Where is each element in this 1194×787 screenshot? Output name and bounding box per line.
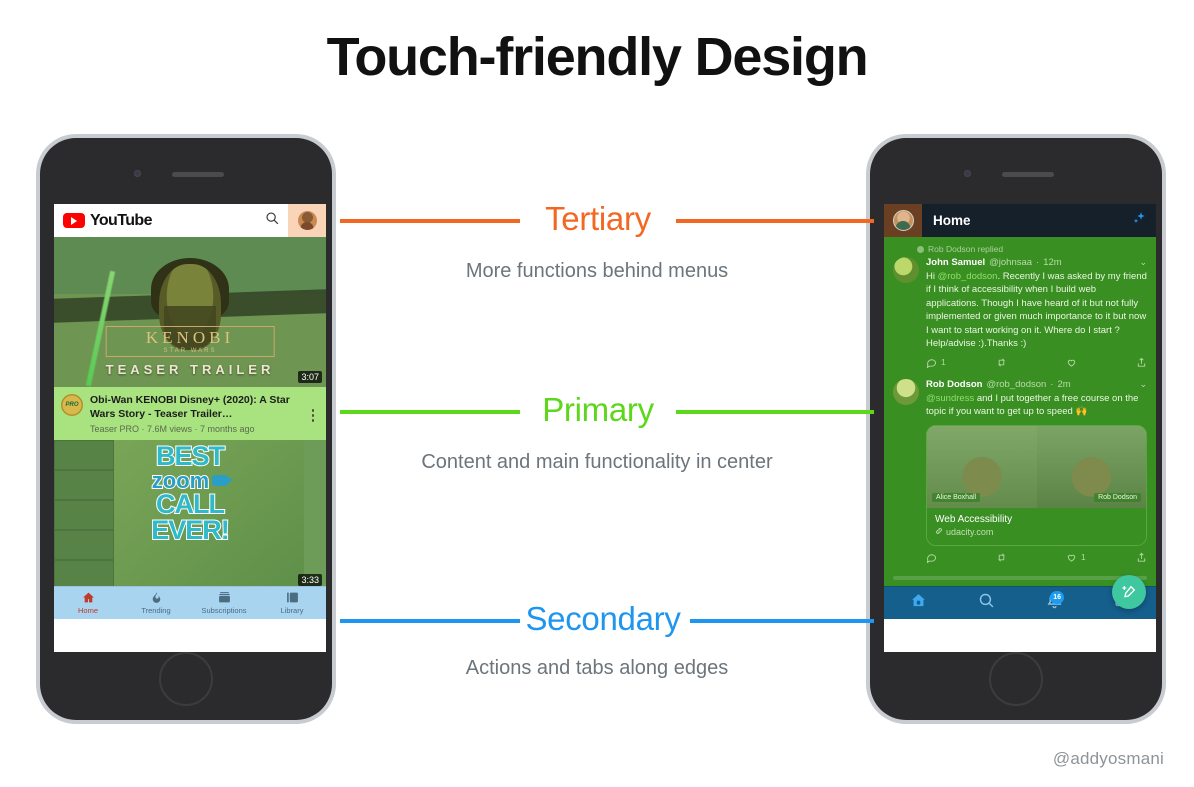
nav-item-subscriptions[interactable]: Subscriptions [190, 591, 258, 615]
twitter-app-bar: Home [884, 204, 1156, 237]
front-camera-icon [964, 170, 971, 177]
retweet-action[interactable] [996, 552, 1066, 563]
home-icon [910, 592, 927, 614]
profile-avatar-button[interactable] [884, 204, 922, 237]
nav-item-library[interactable]: Library [258, 591, 326, 615]
chevron-down-icon[interactable]: ⌄ [1139, 379, 1147, 390]
tweet-body: @sundress and I put together a free cour… [926, 392, 1147, 419]
youtube-play-icon [63, 213, 85, 228]
earpiece-speaker [172, 172, 224, 177]
account-avatar [298, 211, 317, 230]
phone-body: YouTube [40, 138, 332, 720]
share-action[interactable] [1136, 357, 1147, 368]
tweet-context: Rob Dodson replied [917, 244, 1147, 254]
video-camera-icon [212, 475, 228, 486]
profile-avatar [893, 210, 914, 231]
video-duration: 3:33 [298, 574, 322, 586]
leader-line-right [690, 619, 874, 623]
subscriptions-icon [218, 591, 231, 604]
home-icon [82, 591, 95, 604]
video-meta: Teaser PRO · 7.6M views · 7 months ago [90, 424, 299, 434]
sparkle-icon[interactable] [1131, 211, 1146, 231]
phone-mockup-twitter: Home Rob Dodson replied [866, 134, 1166, 724]
reply-action[interactable] [926, 552, 996, 563]
nav-item-home[interactable]: Home [54, 591, 122, 615]
card-url: udacity.com [935, 527, 1138, 537]
slide-canvas: Touch-friendly Design YouTube [0, 0, 1194, 787]
reply-count: 1 [941, 357, 946, 367]
video-overflow-menu-icon[interactable] [306, 394, 320, 434]
flame-icon [150, 591, 163, 604]
notification-badge: 16 [1050, 591, 1064, 604]
video-duration: 3:07 [298, 371, 322, 383]
tweet-link-card[interactable]: Alice Boxhall Rob Dodson Web Accessibili… [926, 425, 1147, 546]
youtube-app-bar: YouTube [54, 204, 326, 237]
search-icon [978, 592, 995, 614]
library-icon [286, 591, 299, 604]
nav-item-search[interactable] [952, 592, 1020, 614]
video-metadata-row[interactable]: PRO Obi-Wan KENOBI Disney+ (2020): A Sta… [54, 387, 326, 440]
nav-label-trending: Trending [141, 606, 170, 615]
channel-avatar[interactable]: PRO [61, 394, 83, 416]
thumbnail-title-block: KENOBI STAR WARS [106, 326, 275, 357]
card-person-right: Rob Dodson [1094, 493, 1141, 502]
card-person-left: Alice Boxhall [932, 493, 980, 502]
thumbnail-line-1: BEST [156, 444, 224, 470]
thumbnail-line-3: EVER! [151, 518, 229, 544]
thumbnail-title-sub: STAR WARS [107, 348, 274, 354]
thumbnail-line-2: CALL [156, 492, 224, 518]
annotation-label-tertiary: Tertiary [520, 200, 676, 238]
video-title: Obi-Wan KENOBI Disney+ (2020): A Star Wa… [90, 394, 299, 421]
tweet-action-bar: 1 [926, 357, 1147, 368]
annotation-desc-secondary: Actions and tabs along edges [0, 657, 1194, 680]
annotation-label-secondary: Secondary [516, 600, 690, 638]
nav-label-home: Home [78, 606, 98, 615]
video-thumbnail[interactable]: BEST zoom CALL EVER! 3:33 [54, 440, 326, 590]
youtube-wordmark: YouTube [90, 212, 152, 230]
card-title: Web Accessibility [935, 514, 1138, 525]
account-avatar-button[interactable] [288, 204, 326, 237]
nav-label-library: Library [281, 606, 304, 615]
leader-line-right [676, 219, 874, 223]
leader-line-left [340, 619, 520, 623]
search-icon[interactable] [256, 211, 288, 230]
link-icon [935, 527, 943, 537]
tweet-author-handle: @rob_dodson [986, 379, 1046, 390]
front-camera-icon [134, 170, 141, 177]
card-url-text: udacity.com [946, 527, 993, 537]
page-heading: Home [933, 213, 971, 228]
tweet-author-name: Rob Dodson [926, 379, 982, 390]
compose-tweet-button[interactable] [1112, 575, 1146, 609]
like-action[interactable] [1066, 357, 1136, 368]
tweet-action-bar: 1 [926, 552, 1147, 563]
tweet-context-label: Rob Dodson replied [928, 244, 1003, 254]
tweet-timestamp: 2m [1057, 379, 1070, 390]
youtube-logo[interactable]: YouTube [63, 212, 152, 230]
reply-context-icon [917, 246, 924, 253]
phone-body: Home Rob Dodson replied [870, 138, 1162, 720]
tweet-avatar[interactable] [893, 379, 919, 405]
like-count: 1 [1081, 552, 1086, 562]
author-credit: @addyosmani [1053, 749, 1164, 769]
twitter-feed[interactable]: Rob Dodson replied John Samuel @johnsaa … [884, 237, 1156, 619]
retweet-action[interactable] [996, 357, 1066, 368]
nav-item-notifications[interactable]: 16 [1020, 592, 1088, 614]
leader-line-right [676, 410, 874, 414]
nav-item-home[interactable] [884, 592, 952, 614]
annotation-label-primary: Primary [520, 391, 676, 429]
thumbnail-banner: TEASER TRAILER [54, 362, 326, 377]
like-action[interactable]: 1 [1066, 552, 1136, 563]
earpiece-speaker [1002, 172, 1054, 177]
leader-line-left [340, 219, 520, 223]
nav-item-trending[interactable]: Trending [122, 591, 190, 615]
youtube-bottom-nav: Home Trending Subscription [54, 586, 326, 619]
tweet-item[interactable]: Rob Dodson replied John Samuel @johnsaa … [884, 237, 1156, 372]
tweet-mention[interactable]: @sundress [926, 393, 974, 404]
youtube-feed[interactable]: KENOBI STAR WARS TEASER TRAILER 3:07 PRO… [54, 237, 326, 619]
annotation-desc-tertiary: More functions behind menus [0, 260, 1194, 283]
phone-mockup-youtube: YouTube [36, 134, 336, 724]
reply-action[interactable]: 1 [926, 357, 996, 368]
thumbnail-title-main: KENOBI [107, 328, 274, 348]
page-title: Touch-friendly Design [0, 26, 1194, 88]
share-action[interactable] [1136, 552, 1147, 563]
leader-line-left [340, 410, 520, 414]
nav-label-subscriptions: Subscriptions [201, 606, 246, 615]
